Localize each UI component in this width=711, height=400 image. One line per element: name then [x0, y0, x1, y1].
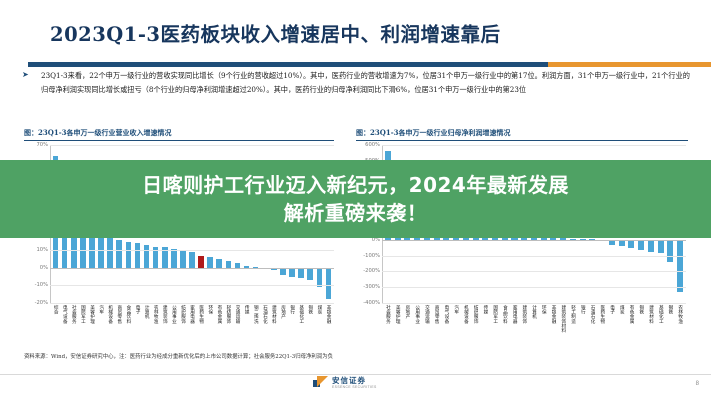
x-tick-label: 建筑装饰材料	[561, 305, 566, 333]
x-tick-label: 基础化工	[299, 305, 304, 323]
x-tick-label: 环保	[541, 305, 546, 314]
x-tick-label: 非银金融	[551, 305, 556, 323]
y-tick-label: -300%	[363, 284, 380, 290]
x-tick-label: 国防军工	[80, 305, 85, 323]
x-tick-label: 电气设备	[444, 305, 449, 323]
x-tick-label: 银行	[289, 305, 294, 314]
x-tick-label: 轻工制造	[570, 305, 575, 323]
bar	[107, 238, 113, 268]
x-tick-label: 房地产	[405, 305, 410, 319]
bullet-body-text: 23Q1-3来看，22个申万一级行业的营收实现同比增长（9个行业的营收超过10%…	[41, 69, 690, 96]
x-tick-label: 公用事业	[171, 305, 176, 323]
gridline	[50, 285, 334, 286]
x-tick-label: 建筑材料	[648, 305, 653, 323]
x-tick-label: 综合	[53, 305, 58, 314]
x-tick-label: 有色金属	[629, 305, 634, 323]
title-rule-blue	[28, 62, 548, 67]
x-tick-label: 食品饮料	[502, 305, 507, 323]
x-tick-label: 商贸零售	[117, 305, 122, 323]
bar	[628, 240, 634, 249]
x-tick-label: 钢二烯洗	[253, 305, 258, 323]
x-tick-label: 汽车	[453, 305, 458, 314]
gridline	[50, 145, 334, 146]
bar	[307, 268, 313, 280]
bar	[658, 240, 664, 253]
y-tick-label: -400%	[363, 300, 380, 306]
x-tick-label: 美容护理	[395, 305, 400, 323]
gridline	[382, 303, 686, 304]
promo-overlay-line-1: 日喀则护工行业迈入新纪元，2024年最新发展	[142, 171, 569, 199]
gridline	[50, 303, 334, 304]
bar	[317, 268, 323, 287]
x-tick-label: 医药生物	[198, 305, 203, 323]
x-tick-label: 建筑装饰	[162, 305, 167, 323]
x-tick-label: 社会服务	[385, 305, 390, 323]
y-tick-label: -100%	[363, 253, 380, 259]
bullet-arrow-icon: ➤	[22, 70, 29, 79]
x-tick-label: 石油石化	[590, 305, 595, 323]
y-tick-label: -200%	[363, 268, 380, 274]
x-tick-label: 环保	[208, 305, 213, 314]
page-number: 8	[696, 381, 699, 387]
bar	[216, 259, 222, 268]
bar	[126, 242, 132, 268]
bar	[189, 252, 195, 268]
x-tick-label: 煤炭	[317, 305, 322, 314]
x-tick-label: 电子	[135, 305, 140, 314]
x-axis-labels-revenue: 综合电气设备社会服务国防军工美容护理汽车机械设备商贸零售食品饮料电子计算机农林牧…	[51, 305, 334, 345]
gridline	[382, 145, 686, 146]
bar	[638, 240, 644, 250]
chart-caption-right: 图：23Q1-3各申万一级行业归母净利润增速情况	[356, 128, 511, 138]
x-axis-labels-profit: 社会服务美容护理房地产公用事业交通运输商贸零售电气设备汽车机械设备纺织服饰传媒国…	[383, 305, 686, 345]
x-tick-label: 商贸零售	[434, 305, 439, 323]
x-tick-label: 交通运输	[424, 305, 429, 323]
x-tick-label: 铜铁	[639, 305, 644, 314]
x-tick-label: 家用电器	[189, 305, 194, 323]
bar	[207, 257, 213, 268]
zero-line	[50, 268, 334, 269]
bar	[326, 268, 332, 300]
x-tick-label: 国防军工	[492, 305, 497, 323]
bar	[280, 268, 286, 275]
title-area: 2023Q1-3医药板块收入增速居中、利润增速靠后	[0, 18, 711, 62]
bar	[648, 240, 654, 252]
y-tick-label: 600%	[365, 142, 380, 148]
x-tick-label: 食品饮料	[126, 305, 131, 323]
logo-name-cn: 安信证券	[332, 377, 377, 385]
y-tick-label: -10%	[35, 282, 48, 288]
x-tick-label: 传媒	[244, 305, 249, 314]
x-tick-label: 农林牧渔	[153, 305, 158, 323]
promo-overlay-line-2: 解析重磅来袭！	[284, 199, 428, 227]
x-tick-label: 机械设备	[108, 305, 113, 323]
x-tick-label: 钢铁	[668, 305, 673, 314]
bar	[135, 243, 141, 268]
source-note: 资料来源：Wind，安信证券研究中心，注：医药行业为经成分重新优化后的上市公司数…	[24, 353, 494, 361]
x-tick-label: 社会服务	[71, 305, 76, 323]
logo-mark-icon	[313, 376, 328, 391]
y-tick-label: 0%	[40, 265, 48, 271]
x-tick-label: 医药生物	[600, 305, 605, 323]
gridline	[382, 256, 686, 257]
x-tick-label: 纺织服饰	[473, 305, 478, 323]
slide-root: 2023Q1-3医药板块收入增速居中、利润增速靠后 ➤ 23Q1-3来看，22个…	[0, 0, 711, 400]
bar	[677, 240, 683, 292]
chart-caption-left: 图：23Q1-3各申万一级行业营业收入增速情况	[24, 128, 172, 138]
x-tick-label: 计算机	[144, 305, 149, 319]
x-tick-label: 银行	[580, 305, 585, 314]
x-tick-label: 煤炭	[619, 305, 624, 314]
x-tick-label: 有色金属	[217, 305, 222, 323]
x-tick-label: 机械设备	[463, 305, 468, 323]
x-tick-label: 石油石化	[262, 305, 267, 323]
bar	[289, 268, 295, 277]
y-tick-label: 70%	[36, 142, 48, 148]
bar	[667, 240, 673, 262]
page-title: 2023Q1-3医药板块收入增速居中、利润增速靠后	[50, 18, 501, 47]
logo-name-en: ESSENCE SECURITIES	[332, 386, 377, 389]
x-tick-label: 电气设备	[62, 305, 67, 323]
footer-divider	[0, 374, 711, 375]
x-tick-label: 计算机	[531, 305, 536, 319]
x-tick-label: 非银金融	[326, 305, 331, 323]
gridline	[382, 287, 686, 288]
x-tick-label: 汽车	[98, 305, 103, 314]
x-tick-label: 基础化工	[658, 305, 663, 323]
bar	[144, 245, 150, 268]
x-tick-label: 农林牧渔	[678, 305, 683, 323]
x-tick-label: 家用电器	[512, 305, 517, 323]
x-tick-label: 电子	[609, 305, 614, 314]
x-tick-label: 铜铁	[308, 305, 313, 314]
title-rule-orange	[548, 62, 711, 67]
promo-overlay-banner: 日喀则护工行业迈入新纪元，2024年最新发展 解析重磅来袭！	[0, 160, 711, 238]
x-tick-label: 传媒	[483, 305, 488, 314]
x-tick-label: 房地产	[280, 305, 285, 319]
x-tick-label: 美容护理	[89, 305, 94, 323]
x-tick-label: 建筑材料	[271, 305, 276, 323]
bar	[298, 268, 304, 279]
chart-caption-rule-left	[24, 140, 334, 141]
zero-line	[382, 240, 686, 241]
bullet-paragraph: ➤ 23Q1-3来看，22个申万一级行业的营收实现同比增长（9个行业的营收超过1…	[22, 69, 690, 96]
x-tick-label: 公用事业	[414, 305, 419, 323]
bar	[171, 249, 177, 268]
bar	[116, 240, 122, 268]
y-tick-label: 10%	[36, 247, 48, 253]
chart-caption-rule-right	[356, 140, 688, 141]
x-tick-label: 纺织服饰	[180, 305, 185, 323]
y-tick-label: -20%	[35, 300, 48, 306]
x-tick-label: 交通运输	[235, 305, 240, 323]
gridline	[382, 271, 686, 272]
bar	[180, 250, 186, 268]
x-tick-label: 建筑装饰	[522, 305, 527, 323]
bar	[226, 261, 232, 268]
gridline	[50, 250, 334, 251]
bar	[198, 256, 204, 268]
x-tick-label: 轻纺服饰	[226, 305, 231, 323]
company-logo: 安信证券 ESSENCE SECURITIES	[313, 376, 377, 391]
